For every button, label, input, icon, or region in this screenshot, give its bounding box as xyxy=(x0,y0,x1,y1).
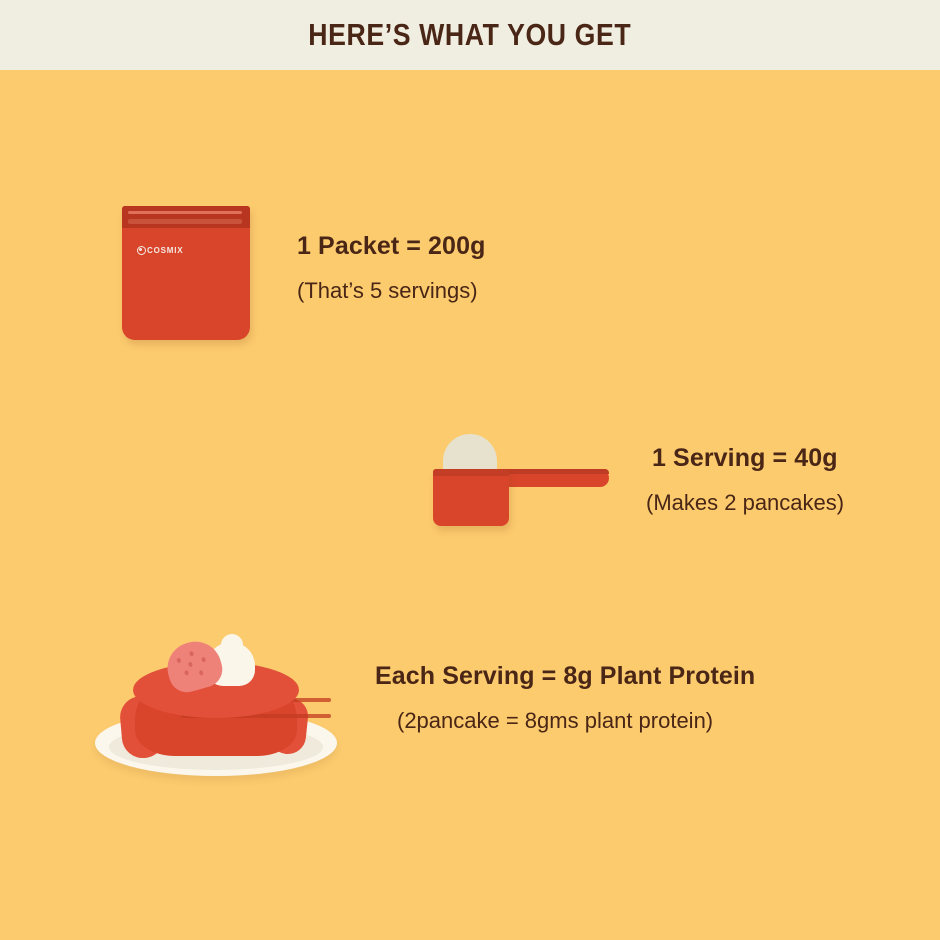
info-row-pancake: Each Serving = 8g Plant Protein (2pancak… xyxy=(95,614,755,782)
zip-line-top xyxy=(128,211,242,214)
strawberry-seed xyxy=(184,670,189,676)
pancake-art xyxy=(95,614,337,782)
page-title: HERE’S WHAT YOU GET xyxy=(308,17,631,53)
whipped-cream-tip xyxy=(221,634,243,652)
info-row-packet: COSMIX 1 Packet = 200g (That’s 5 serving… xyxy=(105,196,485,340)
pancake-stack-icon xyxy=(95,614,337,782)
info-row-scoop: 1 Serving = 40g (Makes 2 pancakes) xyxy=(425,432,844,528)
scoop-cup-rim xyxy=(433,469,509,476)
pancake-subline: (2pancake = 8gms plant protein) xyxy=(397,709,755,733)
infographic-poster: HERE’S WHAT YOU GET COSMIX 1 Packet = 20… xyxy=(0,0,940,940)
pancake-copy: Each Serving = 8g Plant Protein (2pancak… xyxy=(375,663,755,733)
strawberry-seed xyxy=(188,661,193,667)
brand-o-glyph-icon xyxy=(137,246,146,255)
packet-subline: (That’s 5 servings) xyxy=(297,279,485,303)
header-band: HERE’S WHAT YOU GET xyxy=(0,0,940,70)
packet-art: COSMIX xyxy=(105,196,233,340)
strawberry-seed xyxy=(201,657,206,663)
packet-brand-text: COSMIX xyxy=(147,246,183,255)
zip-line-bottom xyxy=(128,219,242,224)
scoop-art xyxy=(425,432,611,528)
measuring-scoop-icon xyxy=(425,432,611,528)
strawberry-seed xyxy=(199,670,204,676)
scoop-subline: (Makes 2 pancakes) xyxy=(646,491,844,515)
pancake-headline: Each Serving = 8g Plant Protein xyxy=(375,663,755,691)
protein-packet-icon: COSMIX xyxy=(105,196,233,340)
scoop-copy: 1 Serving = 40g (Makes 2 pancakes) xyxy=(646,445,844,516)
packet-zip-strip xyxy=(122,206,250,228)
packet-brand-logo: COSMIX xyxy=(137,246,183,255)
scoop-cup xyxy=(433,469,509,526)
strawberry-seed xyxy=(176,657,181,663)
packet-headline: 1 Packet = 200g xyxy=(297,233,485,261)
packet-copy: 1 Packet = 200g (That’s 5 servings) xyxy=(293,233,485,304)
strawberry-seed xyxy=(189,651,194,657)
scoop-headline: 1 Serving = 40g xyxy=(652,445,844,473)
